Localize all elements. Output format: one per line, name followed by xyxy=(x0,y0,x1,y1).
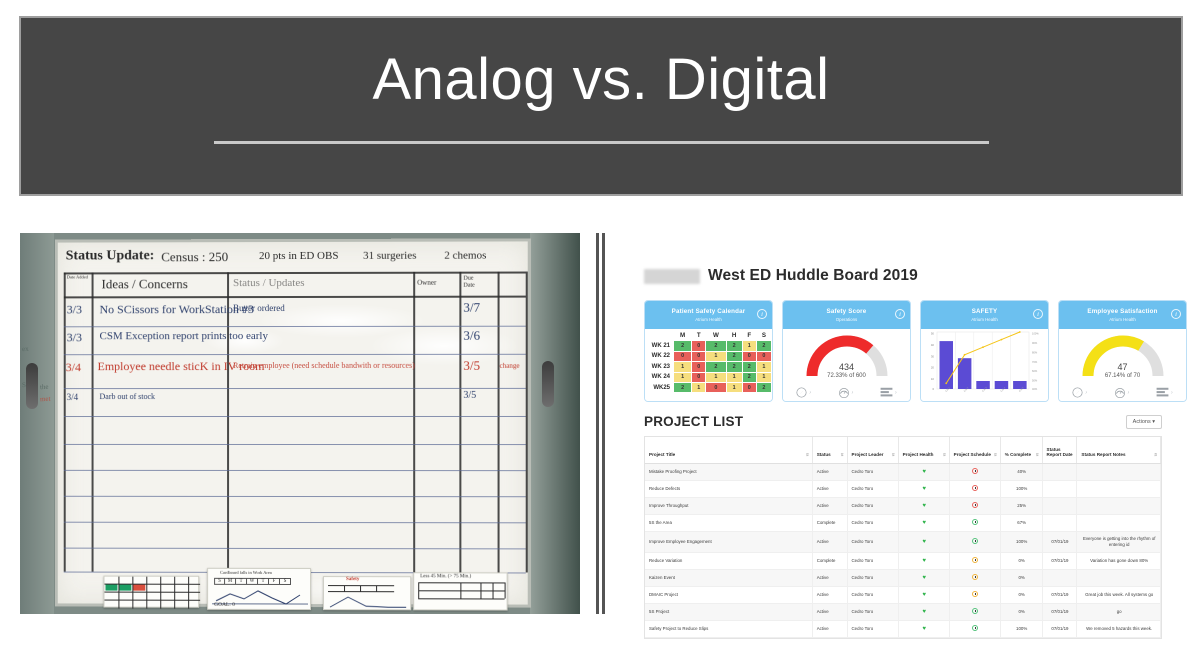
calendar-cell: 1 xyxy=(706,351,726,361)
card-footer-icons: › › › xyxy=(1059,387,1186,398)
employee-satisfaction-gauge: 47 67.14% of 70 xyxy=(1059,332,1186,379)
board-row-2-due: 3/5 xyxy=(463,358,480,374)
calendar-body: WK 21 2 0 2 2 1 2 WK 22 0 xyxy=(646,341,772,393)
gauge-icon[interactable]: › xyxy=(1114,387,1130,398)
info-icon[interactable]: i xyxy=(757,309,767,319)
panel-divider xyxy=(596,233,605,614)
table-row[interactable]: 5S Project Active Cedro Toro ♥ 0% 07/01/… xyxy=(645,604,1161,621)
cell-leader: Cedro Toro xyxy=(847,480,898,497)
col-project-leader[interactable]: Project Leader⇅ xyxy=(847,437,898,463)
svg-text:90%: 90% xyxy=(1032,341,1038,345)
card-safety-score[interactable]: Safety Score Operations i 434 xyxy=(782,300,911,402)
calendar-day-S: S xyxy=(756,331,771,341)
calendar-cell: 0 xyxy=(742,382,756,392)
board-row-1-due: 3/6 xyxy=(463,328,480,344)
board-row-1-date: 3/3 xyxy=(67,330,82,345)
cell-complete: 40% xyxy=(1000,463,1042,480)
heart-icon: ♥ xyxy=(922,626,926,632)
card-subtitle: Atrium Health xyxy=(1109,317,1136,322)
card-header: Employee Satisfaction Atrium Health i xyxy=(1059,301,1186,329)
cell-status: Active xyxy=(812,531,847,552)
heart-icon: ♥ xyxy=(922,609,926,615)
card-body: M T W H F S WK 21 2 xyxy=(645,329,772,401)
svg-text:80%: 80% xyxy=(1032,350,1038,354)
board-row-3-idea: Darb out of stock xyxy=(100,392,156,401)
board-status-update-label: Status Update: xyxy=(66,248,155,264)
cell-notes: We removed 5 hazards this week. xyxy=(1077,621,1161,638)
cell-leader: Cedro Toro xyxy=(847,497,898,514)
cell-leader: Cedro Toro xyxy=(847,552,898,569)
cell-title: 5S Project xyxy=(645,604,812,621)
cell-title: Kaizen Event xyxy=(645,569,812,586)
gauge-icon[interactable]: › xyxy=(838,387,854,398)
heart-icon: ♥ xyxy=(922,486,926,492)
svg-text:30: 30 xyxy=(931,354,935,358)
card-employee-satisfaction[interactable]: Employee Satisfaction Atrium Health i 47 xyxy=(1058,300,1187,402)
board-clip-right xyxy=(542,361,554,407)
wall-note-0: ex xyxy=(22,345,29,353)
board-col-owner: Owner xyxy=(417,279,436,287)
board-row-2-note: change xyxy=(500,362,520,370)
cell-date: 07/01/19 xyxy=(1042,621,1077,638)
board-col-status: Status / Updates xyxy=(233,277,304,289)
calendar-cell: 1 xyxy=(756,372,771,382)
cell-health: ♥ xyxy=(898,604,949,621)
board-row-0-status: Buyer ordered xyxy=(233,303,285,313)
calendar-cell: 1 xyxy=(756,362,771,372)
cell-status: Active xyxy=(812,463,847,480)
card-patient-safety-calendar[interactable]: Patient Safety Calendar Atrium Health i … xyxy=(644,300,773,402)
heart-icon: ♥ xyxy=(922,575,926,581)
cell-health: ♥ xyxy=(898,463,949,480)
sticky-run-chart-title: Cardboard falls in Work Area xyxy=(220,570,272,575)
cell-notes: Great job this week. All systems go xyxy=(1077,586,1161,603)
cell-date xyxy=(1042,480,1077,497)
gauge-arc xyxy=(1080,332,1166,376)
wall-right xyxy=(530,233,580,614)
sticky-blank-table-title: Less 45 Min. (> 75 Min.) xyxy=(420,574,471,579)
schedule-status-icon xyxy=(972,502,978,508)
card-body: 50 40 30 20 10 0 100% 90% 80% 70% 60% 50… xyxy=(921,329,1048,401)
wall-note-3: met xyxy=(40,395,51,404)
run-day-6: S xyxy=(280,578,291,585)
cell-status: Complete xyxy=(812,514,847,531)
cell-date: 07/01/19 xyxy=(1042,586,1077,603)
slide-root: Analog vs. Digital ex S the met Status U… xyxy=(0,0,1200,651)
cell-schedule xyxy=(949,480,1000,497)
calendar-cell: 2 xyxy=(726,351,742,361)
cell-leader: Cedro Toro xyxy=(847,604,898,621)
cell-schedule xyxy=(949,604,1000,621)
sticky-note-run-chart: Cardboard falls in Work Area S M T W T F… xyxy=(207,568,311,610)
board-surgeries: 31 surgeries xyxy=(363,250,416,262)
svg-text:50%: 50% xyxy=(1032,379,1038,383)
card-header: Patient Safety Calendar Atrium Health i xyxy=(645,301,772,329)
card-footer-icons: › › › xyxy=(783,387,910,398)
cell-schedule xyxy=(949,621,1000,638)
title-underline-rule xyxy=(214,141,989,144)
svg-text:50: 50 xyxy=(931,332,935,336)
cell-leader: Cedro Toro xyxy=(847,621,898,638)
cell-health: ♥ xyxy=(898,621,949,638)
calendar-cell: 1 xyxy=(692,382,706,392)
calendar-cell: 2 xyxy=(726,341,742,351)
calendar-cell: 1 xyxy=(726,382,742,392)
digital-dashboard: West ED Huddle Board 2019 Patient Safety… xyxy=(622,233,1184,614)
heart-icon: ♥ xyxy=(922,539,926,545)
cell-notes xyxy=(1077,514,1161,531)
cell-date: 07/01/19 xyxy=(1042,552,1077,569)
cell-health: ♥ xyxy=(898,531,949,552)
calendar-cell: 1 xyxy=(706,372,726,382)
cell-health: ♥ xyxy=(898,514,949,531)
info-icon[interactable]: i xyxy=(1033,309,1043,319)
cell-notes xyxy=(1077,463,1161,480)
cell-complete: 25% xyxy=(1000,497,1042,514)
card-title: Employee Satisfaction xyxy=(1087,308,1157,315)
calendar-cell: 1 xyxy=(674,362,692,372)
schedule-status-icon xyxy=(972,468,978,474)
cell-leader: Cedro Toro xyxy=(847,586,898,603)
cell-health: ♥ xyxy=(898,569,949,586)
board-row-3-due: 3/5 xyxy=(463,390,476,401)
calendar-day-H: H xyxy=(726,331,742,341)
card-subtitle: Atrium Health xyxy=(695,317,722,322)
org-logo-redacted xyxy=(644,269,700,284)
cell-notes: go xyxy=(1077,604,1161,621)
svg-text:40: 40 xyxy=(931,343,935,347)
calendar-cell: 0 xyxy=(706,382,726,392)
cell-complete: 100% xyxy=(1000,621,1042,638)
calendar-cell: 0 xyxy=(742,351,756,361)
cell-schedule xyxy=(949,463,1000,480)
card-subtitle: Atrium Health xyxy=(971,317,998,322)
schedule-status-icon xyxy=(972,538,978,544)
calendar-cell: 2 xyxy=(674,382,692,392)
cell-status: Complete xyxy=(812,552,847,569)
board-col-ideas: Ideas / Concerns xyxy=(102,276,188,292)
sticky-note-line-chart: Safety xyxy=(323,576,411,610)
svg-text:60%: 60% xyxy=(1032,369,1038,373)
cell-date xyxy=(1042,463,1077,480)
actions-button[interactable]: Actions ▾ xyxy=(1126,415,1162,429)
board-row-3-date: 3/4 xyxy=(67,392,78,402)
table-row[interactable]: 5S the Area Complete Cedro Toro ♥ 67% xyxy=(645,514,1161,531)
heart-icon: ♥ xyxy=(922,520,926,526)
list-icon[interactable]: › xyxy=(880,387,897,398)
cell-notes xyxy=(1077,480,1161,497)
cell-status: Active xyxy=(812,604,847,621)
calendar-row: WK25 2 1 0 1 0 2 xyxy=(646,382,772,392)
card-header: SAFETY Atrium Health i xyxy=(921,301,1048,329)
board-census: Census : 250 xyxy=(161,249,228,265)
schedule-status-icon xyxy=(972,557,978,563)
cell-complete: 0% xyxy=(1000,586,1042,603)
board-row-1-idea: CSM Exception report prints too early xyxy=(100,330,268,342)
svg-text:10: 10 xyxy=(931,377,935,381)
cell-schedule xyxy=(949,531,1000,552)
heart-icon: ♥ xyxy=(922,558,926,564)
title-banner: Analog vs. Digital xyxy=(19,16,1183,196)
sticky-note-blank-table: Less 45 Min. (> 75 Min.) xyxy=(413,572,507,610)
cell-schedule xyxy=(949,552,1000,569)
cell-date xyxy=(1042,497,1077,514)
calendar-cell: 0 xyxy=(674,351,692,361)
schedule-status-icon xyxy=(972,485,978,491)
board-ed-obs: 20 pts in ED OBS xyxy=(259,250,338,262)
col-project-schedule[interactable]: Project Schedule⇅ xyxy=(949,437,1000,463)
compass-icon[interactable]: › xyxy=(1072,387,1087,398)
col-status-report-notes[interactable]: Status Report Notes⇅ xyxy=(1077,437,1161,463)
cell-complete: 0% xyxy=(1000,552,1042,569)
calendar-week-label: WK25 xyxy=(646,382,674,392)
run-day-2: T xyxy=(236,578,247,585)
calendar-cell: 0 xyxy=(692,341,706,351)
calendar-cell: 2 xyxy=(726,362,742,372)
safety-score-gauge: 434 72.33% of 600 xyxy=(783,332,910,379)
cell-date xyxy=(1042,514,1077,531)
svg-text:70%: 70% xyxy=(1032,360,1038,364)
svg-text:100%: 100% xyxy=(1032,332,1039,336)
board-row-2-status: Retrain employee (need schedule bandwith… xyxy=(233,361,415,370)
board-col-date: Date Added xyxy=(67,275,88,280)
table-row[interactable]: Improve Throughput Active Cedro Toro ♥ 2… xyxy=(645,497,1161,514)
calendar-cell: 1 xyxy=(742,341,756,351)
cell-status: Active xyxy=(812,621,847,638)
calendar-row: WK 23 1 0 2 2 2 1 xyxy=(646,362,772,372)
calendar-cell: 0 xyxy=(756,351,771,361)
svg-text:0: 0 xyxy=(932,387,934,391)
sticky-note-month-calendar xyxy=(103,576,199,608)
table-row[interactable]: Kaizen Event Active Cedro Toro ♥ 0% xyxy=(645,569,1161,586)
project-list-table-wrap: Project Title⇅ Status⇅ Project Leader⇅ P… xyxy=(644,436,1162,639)
cell-date: 07/01/19 xyxy=(1042,604,1077,621)
card-subtitle: Operations xyxy=(836,317,857,322)
kpi-card-row: Patient Safety Calendar Atrium Health i … xyxy=(644,300,1187,402)
cell-status: Active xyxy=(812,569,847,586)
col-project-health[interactable]: Project Health⇅ xyxy=(898,437,949,463)
col-project-title[interactable]: Project Title⇅ xyxy=(645,437,812,463)
cell-complete: 67% xyxy=(1000,514,1042,531)
project-list-header-row: Project Title⇅ Status⇅ Project Leader⇅ P… xyxy=(645,437,1161,463)
cell-health: ♥ xyxy=(898,480,949,497)
cell-title: Reduce Defects xyxy=(645,480,812,497)
calendar-cell: 2 xyxy=(742,372,756,382)
calendar-cell: 2 xyxy=(756,382,771,392)
schedule-status-icon xyxy=(972,574,978,580)
cell-leader: Cedro Toro xyxy=(847,569,898,586)
card-safety-pareto[interactable]: SAFETY Atrium Health i 50 xyxy=(920,300,1049,402)
calendar-week-label: WK 24 xyxy=(646,372,674,382)
heart-icon: ♥ xyxy=(922,503,926,509)
project-list-header: PROJECT LIST Actions ▾ xyxy=(644,414,1162,429)
wall-note-1: S xyxy=(22,381,26,389)
calendar-day-T: T xyxy=(692,331,706,341)
calendar-row: WK 21 2 0 2 2 1 2 xyxy=(646,341,772,351)
calendar-cell: 2 xyxy=(756,341,771,351)
calendar-cell: 2 xyxy=(706,341,726,351)
calendar-day-M: M xyxy=(674,331,692,341)
cell-complete: 100% xyxy=(1000,480,1042,497)
col-status-report-date[interactable]: Status Report Date xyxy=(1042,437,1077,463)
cell-title: 5S the Area xyxy=(645,514,812,531)
cell-notes: Everyone is getting into the rhythm of e… xyxy=(1077,531,1161,552)
calendar-cell: 1 xyxy=(674,372,692,382)
calendar-day-W: W xyxy=(706,331,726,341)
board-row-2-date: 3/4 xyxy=(66,360,81,375)
schedule-status-icon xyxy=(972,591,978,597)
cell-title: Mistake Proofing Project xyxy=(645,463,812,480)
cell-schedule xyxy=(949,586,1000,603)
board-clip-left xyxy=(26,363,38,409)
info-icon[interactable]: i xyxy=(1171,309,1181,319)
schedule-status-icon xyxy=(972,625,978,631)
cell-date xyxy=(1042,569,1077,586)
compass-icon[interactable]: › xyxy=(796,387,811,398)
heart-icon: ♥ xyxy=(922,592,926,598)
cell-complete: 0% xyxy=(1000,569,1042,586)
board-row-0-idea: No SCissors for WorkStation #3 xyxy=(100,302,254,317)
calendar-week-label: WK 21 xyxy=(646,341,674,351)
cell-health: ♥ xyxy=(898,586,949,603)
wall-note-2: the xyxy=(40,383,49,391)
svg-text:40%: 40% xyxy=(1032,387,1038,391)
card-body: 47 67.14% of 70 › › xyxy=(1059,329,1186,401)
cell-complete: 100% xyxy=(1000,531,1042,552)
sticky-line-chart-title: Safety xyxy=(346,577,359,582)
cell-schedule xyxy=(949,497,1000,514)
cell-notes xyxy=(1077,569,1161,586)
board-chemos: 2 chemos xyxy=(444,250,486,262)
calendar-cell: 1 xyxy=(726,372,742,382)
run-day-1: M xyxy=(225,578,236,585)
table-row[interactable]: Mistake Proofing Project Active Cedro To… xyxy=(645,463,1161,480)
info-icon[interactable]: i xyxy=(895,309,905,319)
cell-health: ♥ xyxy=(898,497,949,514)
list-icon[interactable]: › xyxy=(1156,387,1173,398)
calendar-cell: 0 xyxy=(692,351,706,361)
dashboard-title: West ED Huddle Board 2019 xyxy=(708,267,918,285)
card-title: Patient Safety Calendar xyxy=(672,308,746,315)
cell-status: Active xyxy=(812,497,847,514)
table-row[interactable]: DMAIC Project Active Cedro Toro ♥ 0% 07/… xyxy=(645,586,1161,603)
schedule-status-icon xyxy=(972,519,978,525)
cell-notes: Variation has gone down 80% xyxy=(1077,552,1161,569)
calendar-cell: 0 xyxy=(692,362,706,372)
calendar-week-label: WK 23 xyxy=(646,362,674,372)
analog-whiteboard-photo: ex S the met Status Update: Census : 250… xyxy=(20,233,580,614)
cell-notes xyxy=(1077,497,1161,514)
run-chart-goal: GOAL: 0 xyxy=(214,602,235,608)
cell-title: DMAIC Project xyxy=(645,586,812,603)
cell-schedule xyxy=(949,569,1000,586)
cell-status: Active xyxy=(812,480,847,497)
cell-title: Safety Project to Reduce Slips xyxy=(645,621,812,638)
project-list-table: Project Title⇅ Status⇅ Project Leader⇅ P… xyxy=(645,437,1161,638)
heart-icon: ♥ xyxy=(922,469,926,475)
wall-left xyxy=(20,233,54,614)
calendar-row: WK 24 1 0 1 1 2 1 xyxy=(646,372,772,382)
schedule-status-icon xyxy=(972,608,978,614)
cell-title: Improve Employee Engagement xyxy=(645,531,812,552)
table-row[interactable]: Improve Employee Engagement Active Cedro… xyxy=(645,531,1161,552)
calendar-week-label: WK 22 xyxy=(646,351,674,361)
project-list-body: Mistake Proofing Project Active Cedro To… xyxy=(645,463,1161,638)
dashboard-header: West ED Huddle Board 2019 xyxy=(644,267,918,285)
cell-leader: Cedro Toro xyxy=(847,463,898,480)
calendar-header-row: M T W H F S xyxy=(646,331,772,341)
cell-title: Reduce Variation xyxy=(645,552,812,569)
calendar-corner xyxy=(646,331,674,341)
run-day-0: S xyxy=(214,578,225,585)
col-percent-complete[interactable]: % Complete⇅ xyxy=(1000,437,1042,463)
cell-date: 07/01/19 xyxy=(1042,531,1077,552)
calendar-cell: 0 xyxy=(692,372,706,382)
card-title: Safety Score xyxy=(827,308,867,315)
patient-safety-calendar-table: M T W H F S WK 21 2 xyxy=(645,330,772,393)
pareto-chart-svg: 50 40 30 20 10 0 100% 90% 80% 70% 60% 50… xyxy=(921,329,1049,402)
col-status[interactable]: Status⇅ xyxy=(812,437,847,463)
card-header: Safety Score Operations i xyxy=(783,301,910,329)
table-row[interactable]: Reduce Variation Complete Cedro Toro ♥ 0… xyxy=(645,552,1161,569)
run-day-3: W xyxy=(247,578,258,585)
cell-title: Improve Throughput xyxy=(645,497,812,514)
calendar-day-F: F xyxy=(742,331,756,341)
board-col-due: Due Date xyxy=(463,276,474,290)
calendar-row: WK 22 0 0 1 2 0 0 xyxy=(646,351,772,361)
card-body: 434 72.33% of 600 › › xyxy=(783,329,910,401)
run-day-4: T xyxy=(258,578,269,585)
cell-leader: Cedro Toro xyxy=(847,514,898,531)
table-row[interactable]: Reduce Defects Active Cedro Toro ♥ 100% xyxy=(645,480,1161,497)
page-title: Analog vs. Digital xyxy=(372,46,829,113)
cell-schedule xyxy=(949,514,1000,531)
cell-complete: 0% xyxy=(1000,604,1042,621)
board-row-0-date: 3/3 xyxy=(67,302,82,317)
project-list-title: PROJECT LIST xyxy=(644,414,743,429)
card-title: SAFETY xyxy=(972,308,998,315)
gauge-arc xyxy=(804,332,890,376)
cell-status: Active xyxy=(812,586,847,603)
line-chart-svg xyxy=(324,593,412,611)
cell-leader: Cedro Toro xyxy=(847,531,898,552)
calendar-cell: 2 xyxy=(674,341,692,351)
svg-text:20: 20 xyxy=(931,366,935,370)
calendar-cell: 2 xyxy=(706,362,726,372)
calendar-cell: 2 xyxy=(742,362,756,372)
cell-health: ♥ xyxy=(898,552,949,569)
whiteboard-surface: Status Update: Census : 250 20 pts in ED… xyxy=(55,238,531,607)
board-row-0-due: 3/7 xyxy=(463,300,480,316)
run-day-5: F xyxy=(269,578,280,585)
table-row[interactable]: Safety Project to Reduce Slips Active Ce… xyxy=(645,621,1161,638)
